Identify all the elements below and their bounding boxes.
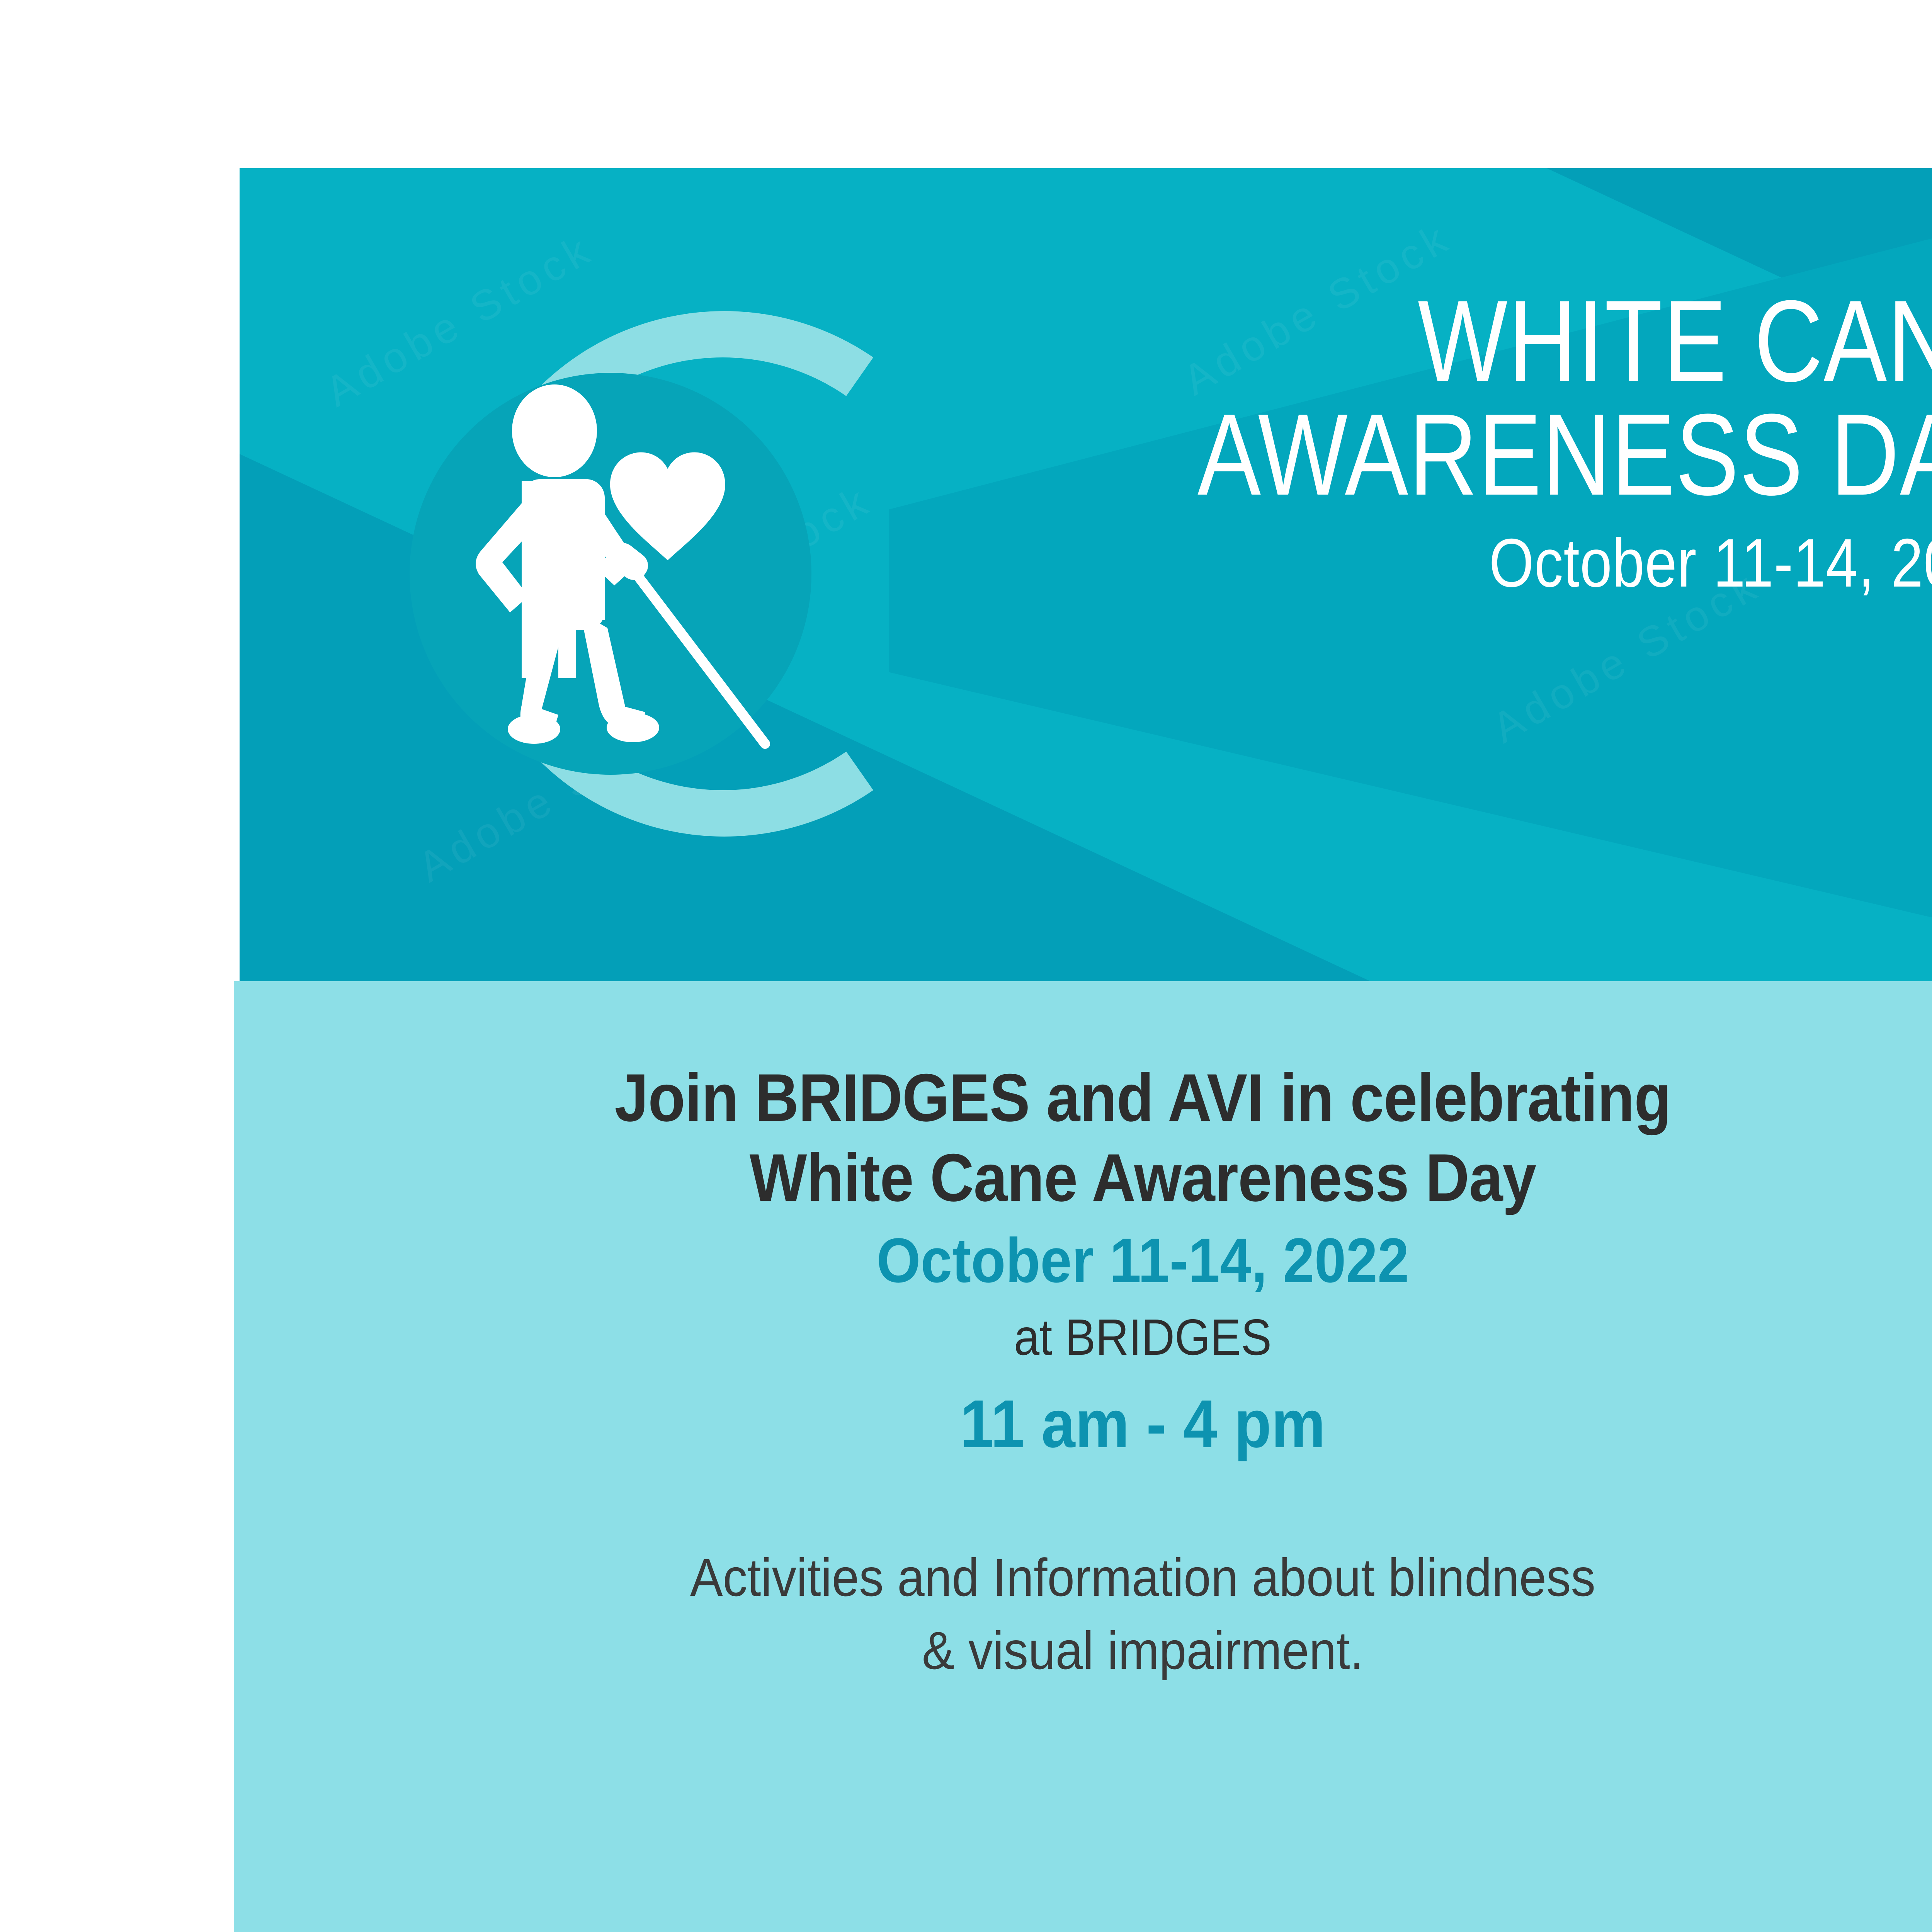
banner-date: October 11-14, 2022 <box>1093 511 1932 614</box>
banner-headline-line-1: WHITE CANE <box>1115 284 1932 398</box>
event-venue: at BRIDGES <box>325 1303 1932 1372</box>
event-details-block: Join BRIDGES and AVI in celebrating Whit… <box>234 1058 1932 1476</box>
invitation-line-2: White Cane Awareness Day <box>325 1138 1932 1218</box>
description-line-1: Activities and Information about blindne… <box>306 1541 1932 1614</box>
banner-headline-block: WHITE CANE AWARENESS DAY October 11-14, … <box>916 284 1932 614</box>
header-banner: Adobe Stock Adobe Stock Adobe Stock Adob… <box>240 168 1932 981</box>
white-cane-logo <box>305 241 970 906</box>
event-date: October 11-14, 2022 <box>325 1218 1932 1303</box>
banner-headline-line-2: AWARENESS DAY <box>1115 398 1932 511</box>
invitation-line-1: Join BRIDGES and AVI in celebrating <box>325 1058 1932 1138</box>
event-hours: 11 am - 4 pm <box>325 1372 1932 1476</box>
body-panel: Join BRIDGES and AVI in celebrating Whit… <box>234 981 1932 1932</box>
description-line-2: & visual impairment. <box>306 1614 1932 1687</box>
walking-person-with-cane-icon <box>305 241 970 906</box>
flyer-page: Adobe Stock Adobe Stock Adobe Stock Adob… <box>0 0 1932 1932</box>
event-description-block: Activities and Information about blindne… <box>234 1541 1932 1687</box>
